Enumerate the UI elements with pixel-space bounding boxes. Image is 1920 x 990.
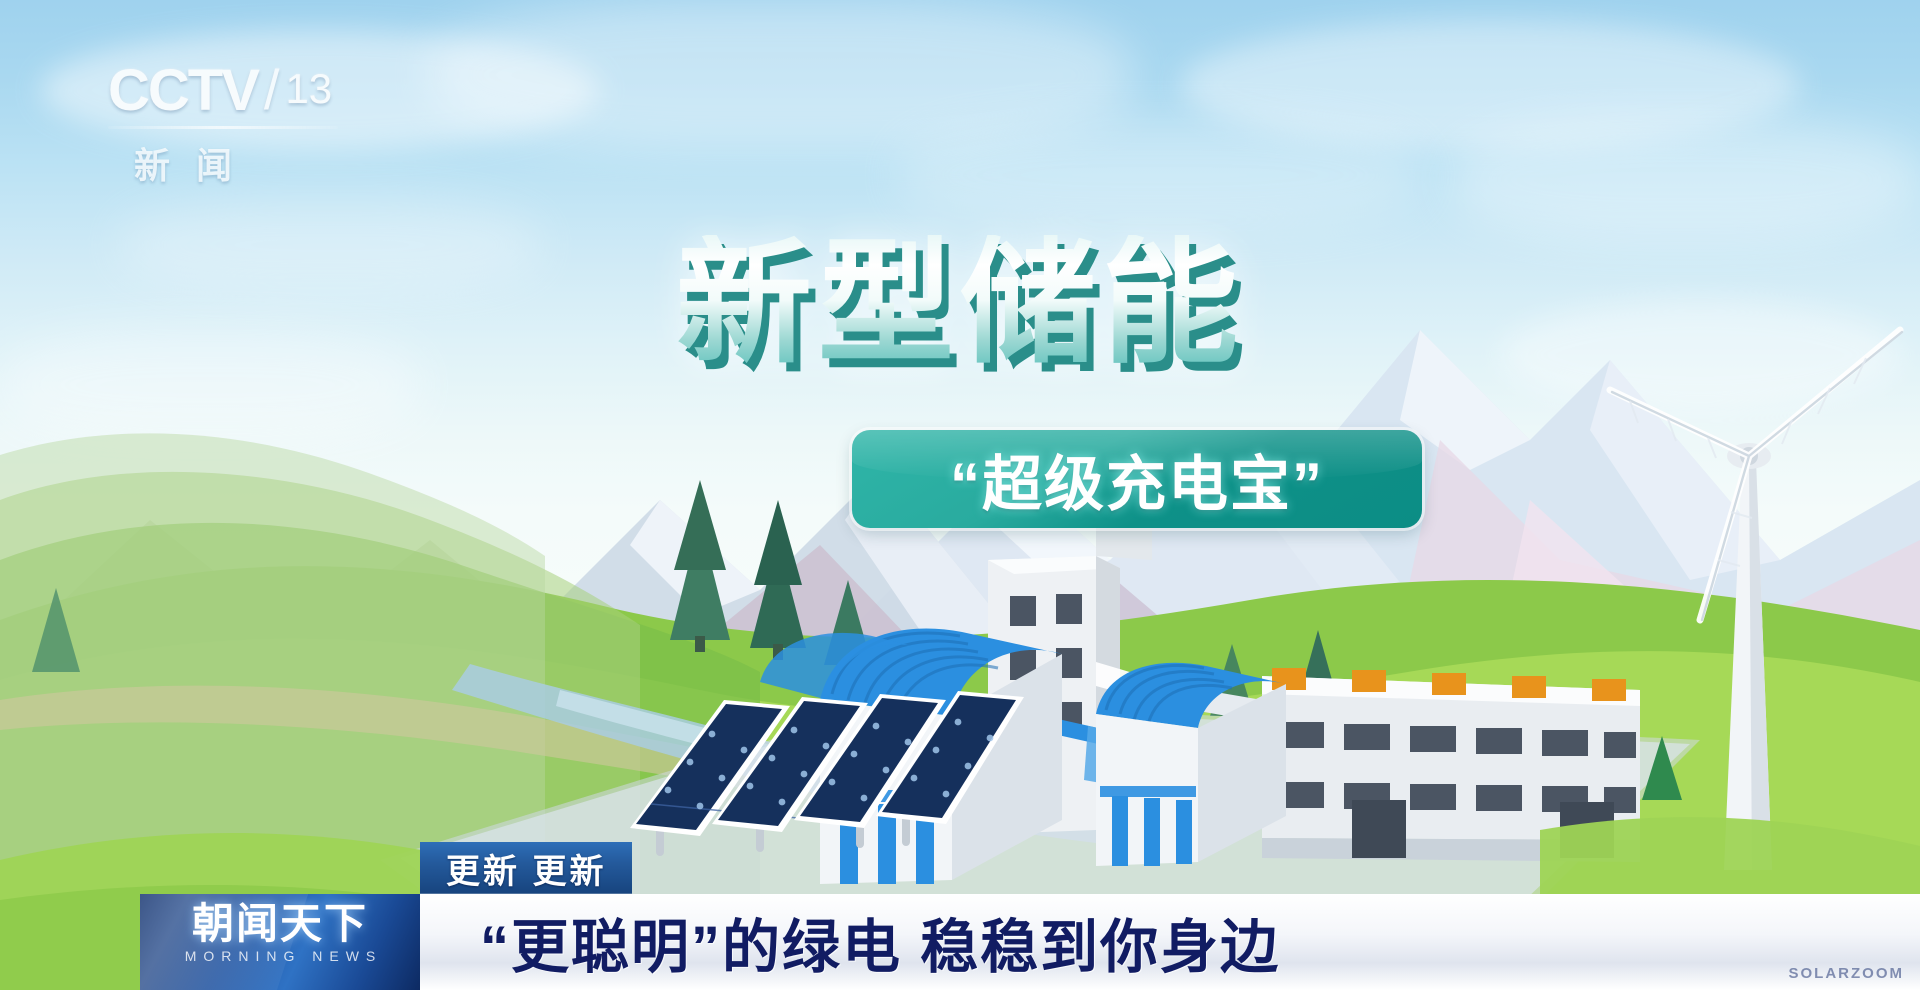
program-logo: 朝闻天下 MORNING NEWS (140, 894, 420, 990)
lower-third: 更新 更新 朝闻天下 MORNING NEWS “更聪明”的绿电 稳稳到你身边 … (0, 890, 1920, 990)
cctv-channel-label: 新闻 (108, 137, 388, 189)
cctv-letters: CCTV (108, 62, 258, 120)
subtitle-banner-label: “超级充电宝” (950, 436, 1324, 523)
page-title: 新型储能 (0, 235, 1920, 371)
status-badge: 更新 更新 (420, 842, 632, 894)
cctv-divider (108, 126, 338, 129)
headline-bar: “更聪明”的绿电 稳稳到你身边 SOLARZOOM (420, 894, 1920, 990)
subtitle-banner: “超级充电宝” (852, 430, 1422, 528)
headline-text: “更聪明”的绿电 稳稳到你身边 (480, 900, 1280, 984)
cctv-channel-number: 13 (285, 68, 332, 110)
status-badge-label: 更新 更新 (446, 844, 606, 893)
cctv-logo-icon: CCTV / 13 新闻 (108, 62, 388, 182)
program-name-en: MORNING NEWS (140, 948, 420, 964)
program-name-cn: 朝闻天下 (140, 902, 420, 946)
cctv-wordmark: CCTV / 13 (108, 62, 388, 120)
watermark: SOLARZOOM (1789, 965, 1905, 982)
cctv-slash: / (264, 62, 278, 118)
broadcast-frame: CCTV / 13 新闻 新型储能 “超级充电宝” 更新 更新 朝闻天下 MOR… (0, 0, 1920, 990)
